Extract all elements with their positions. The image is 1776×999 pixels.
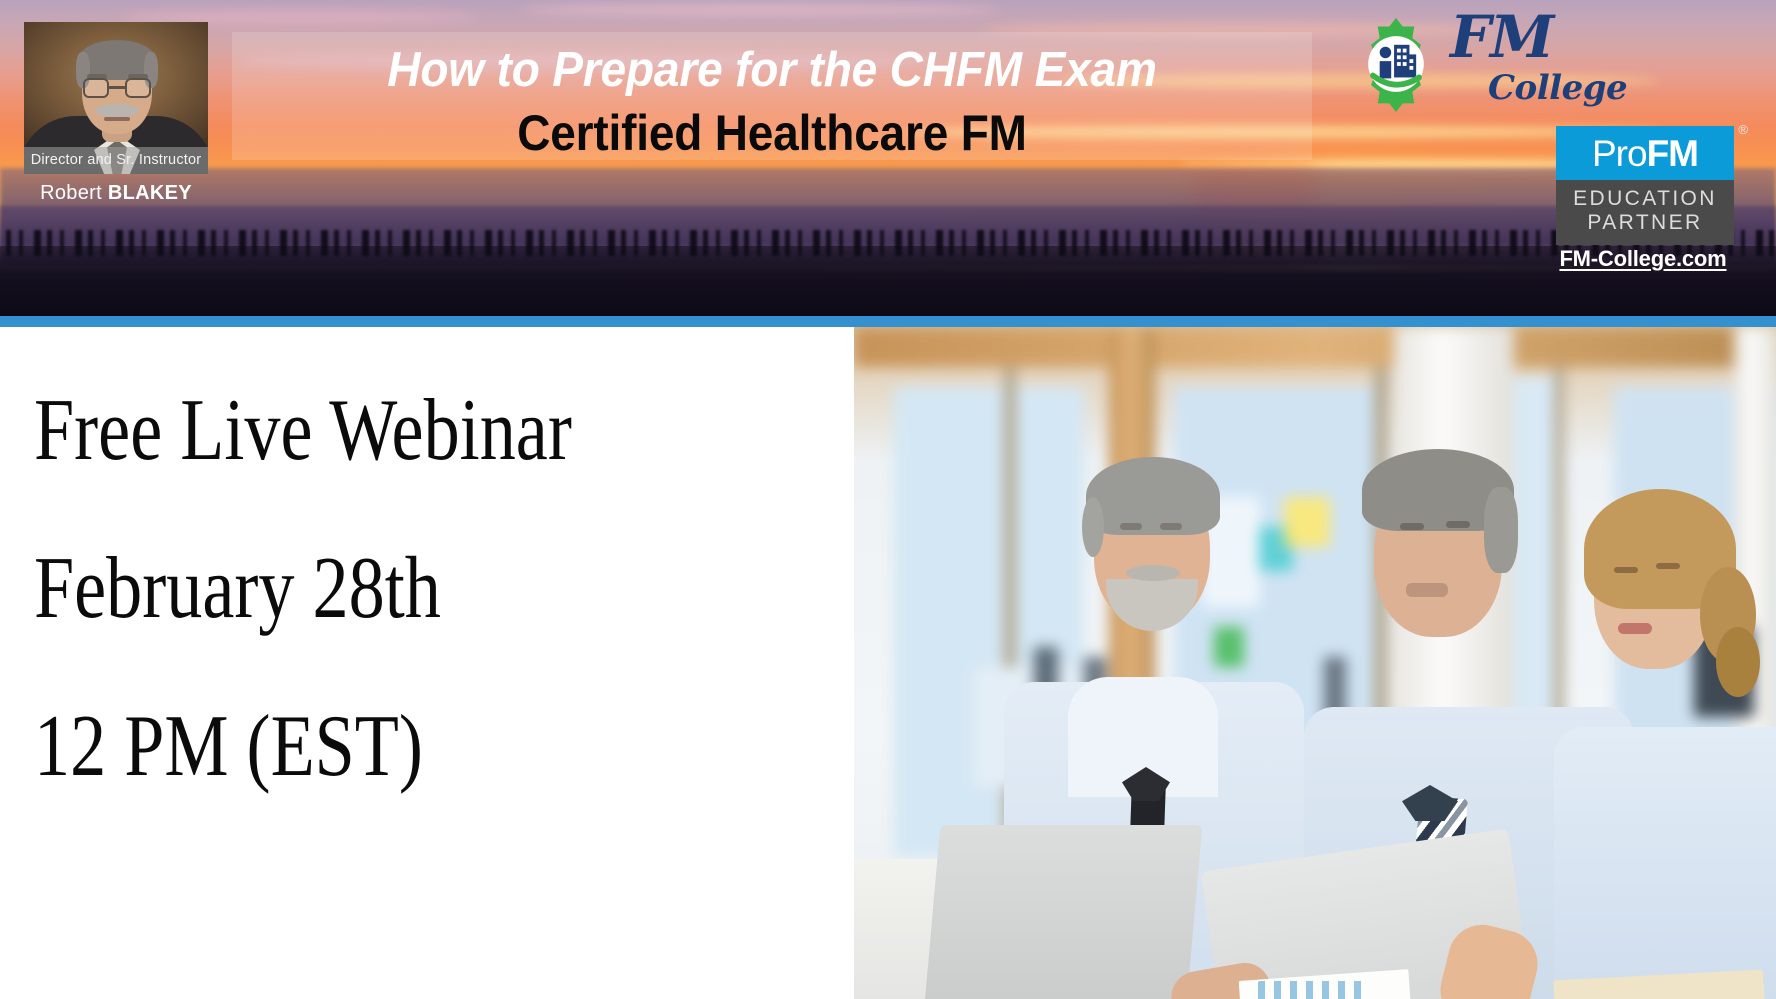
event-detail-line: 12 PM (EST) [34,703,674,791]
instructor-role-label: Director and Sr. Instructor [24,147,208,174]
fm-college-logo[interactable]: FM College [1342,14,1762,120]
fm-wordmark-text: FM [1450,10,1630,65]
profm-pro-text: Pro [1592,133,1647,174]
profm-subtitle: EDUCATION PARTNER [1556,180,1734,245]
cloud-streak [520,4,1000,16]
body-area: Free Live Webinar February 28th 12 PM (E… [0,327,1776,999]
instructor-photo: Director and Sr. Instructor [24,22,208,174]
instructor-block: Director and Sr. Instructor Robert BLAKE… [24,22,208,205]
laptop [924,825,1203,999]
instructor-last-name: BLAKEY [108,182,192,204]
registered-trademark-icon: ® [1738,122,1748,137]
tree-line-silhouette [0,246,1776,316]
instructor-first-name: Robert [40,182,108,204]
chart-printout [1258,981,1368,999]
profm-education-partner-logo[interactable]: ProFM ® EDUCATION PARTNER [1556,126,1734,245]
headline-secondary: Certified Healthcare FM [275,104,1269,162]
logo-stack: FM College ProFM ® EDUCATION PARTNER FM-… [1342,14,1762,120]
profm-brand-bar: ProFM ® [1556,126,1734,180]
business-meeting-photo [854,327,1776,999]
college-wordmark-text: College [1488,68,1627,108]
event-detail-line: Free Live Webinar [34,387,674,475]
header-banner: Director and Sr. Instructor Robert BLAKE… [0,0,1776,316]
website-link[interactable]: FM-College.com [1548,246,1738,272]
profm-wordmark: ProFM [1592,135,1698,172]
profm-subtitle-line2: PARTNER [1556,211,1734,235]
instructor-name: Robert BLAKEY [12,174,220,205]
webinar-promo-poster: Director and Sr. Instructor Robert BLAKE… [0,0,1776,999]
headline-primary: How to Prepare for the CHFM Exam [264,42,1279,98]
profm-subtitle-line1: EDUCATION [1556,187,1734,211]
blue-divider-bar [0,316,1776,327]
gear-building-icon [1348,16,1444,112]
event-details-text: Free Live Webinar February 28th 12 PM (E… [34,387,814,791]
profm-fm-text: FM [1647,133,1698,174]
event-detail-line: February 28th [34,545,674,633]
